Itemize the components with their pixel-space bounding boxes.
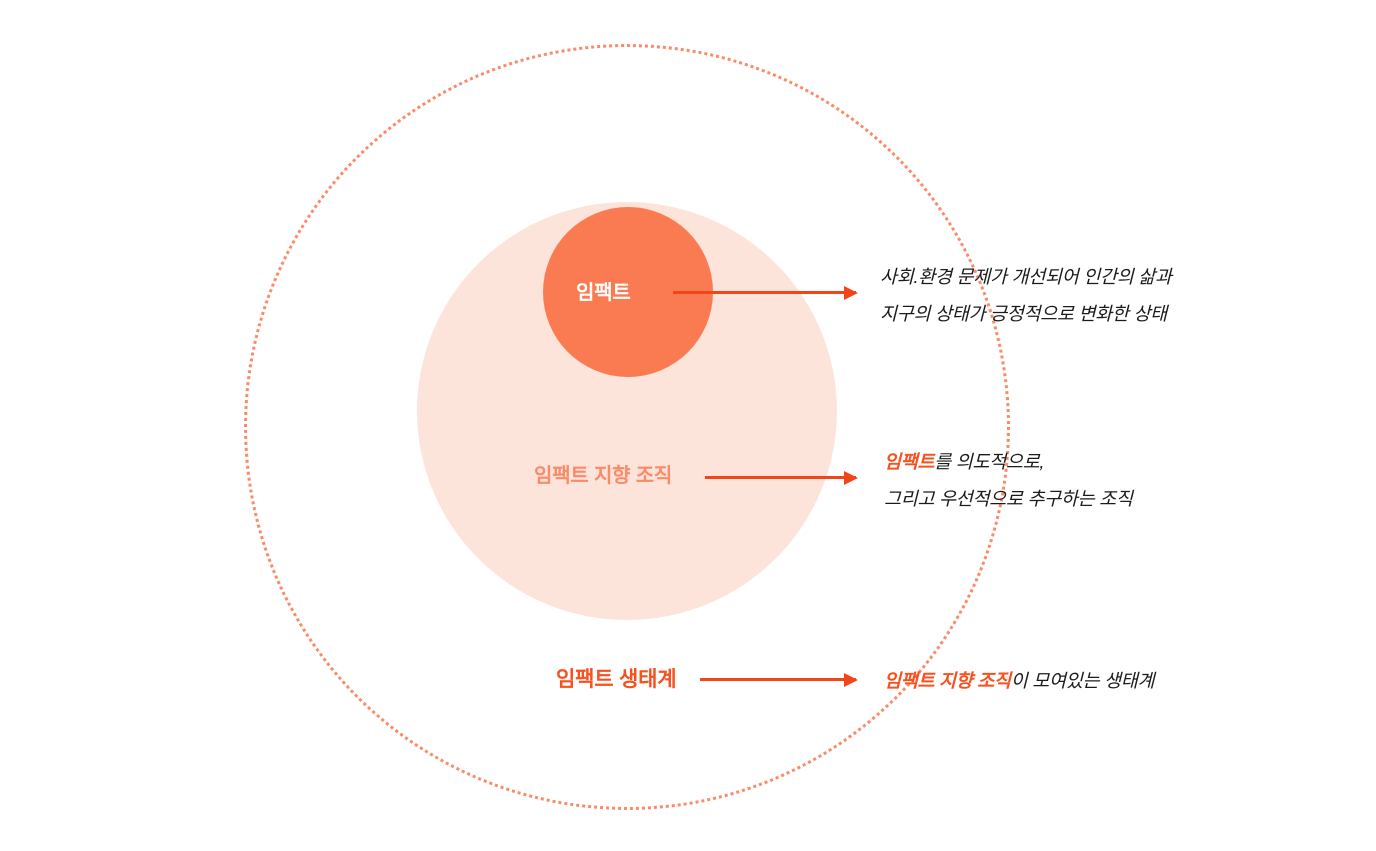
- description-middle-impact-oriented-org: 임팩트를 의도적으로, 그리고 우선적으로 추구하는 조직: [884, 443, 1133, 517]
- description-middle-line-1: 임팩트를 의도적으로,: [884, 443, 1133, 480]
- arrow-middle-to-description: [705, 476, 856, 479]
- arrow-core-to-description: [673, 291, 856, 294]
- description-middle-rest: 를 의도적으로,: [934, 451, 1044, 472]
- label-middle-impact-oriented-org: 임팩트 지향 조직: [534, 459, 672, 488]
- description-outer-line-1: 임팩트 지향 조직이 모여있는 생태계: [884, 662, 1154, 699]
- description-middle-line-2: 그리고 우선적으로 추구하는 조직: [884, 480, 1133, 517]
- description-outer-highlight: 임팩트 지향 조직: [884, 670, 1011, 691]
- description-middle-highlight: 임팩트: [884, 451, 934, 472]
- description-core-line-1: 사회.환경 문제가 개선되어 인간의 삶과: [880, 258, 1172, 295]
- description-core-line-2: 지구의 상태가 긍정적으로 변화한 상태: [880, 295, 1172, 332]
- label-core-impact: 임팩트: [576, 276, 631, 305]
- arrow-outer-to-description: [700, 678, 856, 681]
- label-outer-impact-ecosystem: 임팩트 생태계: [556, 663, 676, 693]
- description-outer-rest: 이 모여있는 생태계: [1011, 670, 1154, 691]
- description-core-impact: 사회.환경 문제가 개선되어 인간의 삶과 지구의 상태가 긍정적으로 변화한 …: [880, 258, 1172, 332]
- description-outer-impact-ecosystem: 임팩트 지향 조직이 모여있는 생태계: [884, 662, 1154, 699]
- diagram-canvas: 임팩트 임팩트 지향 조직 임팩트 생태계 사회.환경 문제가 개선되어 인간의…: [0, 0, 1376, 851]
